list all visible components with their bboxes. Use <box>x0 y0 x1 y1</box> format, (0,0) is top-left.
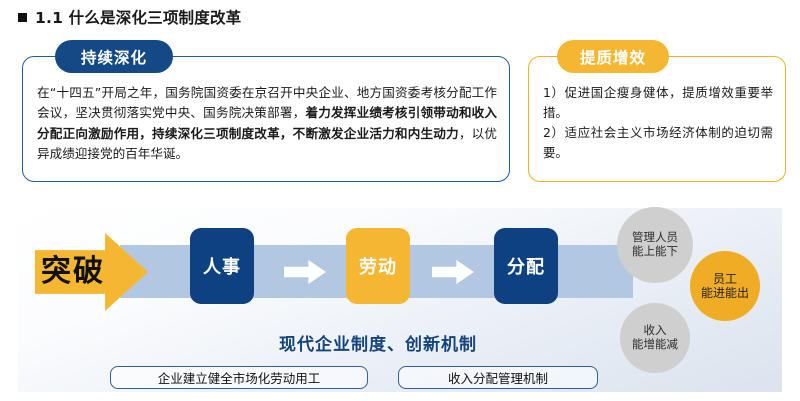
square-bullet-icon <box>18 13 27 22</box>
card-continuous-deepening: 持续深化 在“十四五”开局之年，国务院国资委在京召开中央企业、地方国资委考核分配… <box>22 56 510 182</box>
chip-labor-employment: 企业建立健全市场化劳动用工 <box>110 366 368 389</box>
circle-line-2: 能上能下 <box>632 245 678 259</box>
diagram-caption: 现代企业制度、创新机制 <box>228 330 528 355</box>
card-body-quality-efficiency: 1）促进国企瘦身健体，提质增效重要举措。 2）适应社会主义市场经济体制的迫切需要… <box>543 83 773 162</box>
circle-line-2: 能进能出 <box>701 286 749 300</box>
process-step-personnel[interactable]: 人事 <box>190 228 254 304</box>
page-title: 1.1 什么是深化三项制度改革 <box>18 6 241 28</box>
process-step-labor[interactable]: 劳动 <box>346 228 410 304</box>
list-item: 1）促进国企瘦身健体，提质增效重要举措。 <box>543 83 773 123</box>
circle-income: 收入 能增能减 <box>620 303 690 373</box>
card-quality-efficiency: 提质增效 1）促进国企瘦身健体，提质增效重要举措。 2）适应社会主义市场经济体制… <box>528 56 786 182</box>
card-badge-quality-efficiency: 提质增效 <box>557 40 669 73</box>
process-step-distribution[interactable]: 分配 <box>494 228 558 304</box>
circle-line-1: 员工 <box>713 272 737 286</box>
card-body-continuous-deepening: 在“十四五”开局之年，国务院国资委在京召开中央企业、地方国资委考核分配工作会议，… <box>37 83 497 165</box>
circle-line-2: 能增能减 <box>632 338 678 352</box>
circle-line-1: 收入 <box>644 324 667 338</box>
chip-income-distribution: 收入分配管理机制 <box>398 366 598 389</box>
process-step-label: 劳动 <box>359 253 397 279</box>
process-step-label: 人事 <box>203 253 241 279</box>
list-item: 2）适应社会主义市场经济体制的迫切需要。 <box>543 123 773 163</box>
card-badge-continuous-deepening: 持续深化 <box>55 40 173 73</box>
process-step-label: 分配 <box>507 253 545 279</box>
page-title-text: 1.1 什么是深化三项制度改革 <box>35 6 241 28</box>
circle-management: 管理人员 能上能下 <box>617 207 693 283</box>
slide-root: 1.1 什么是深化三项制度改革 持续深化 在“十四五”开局之年，国务院国资委在京… <box>0 0 800 401</box>
circle-employee: 员工 能进能出 <box>690 251 760 321</box>
circle-line-1: 管理人员 <box>632 231 678 245</box>
breakthrough-label: 突破 <box>35 257 105 287</box>
